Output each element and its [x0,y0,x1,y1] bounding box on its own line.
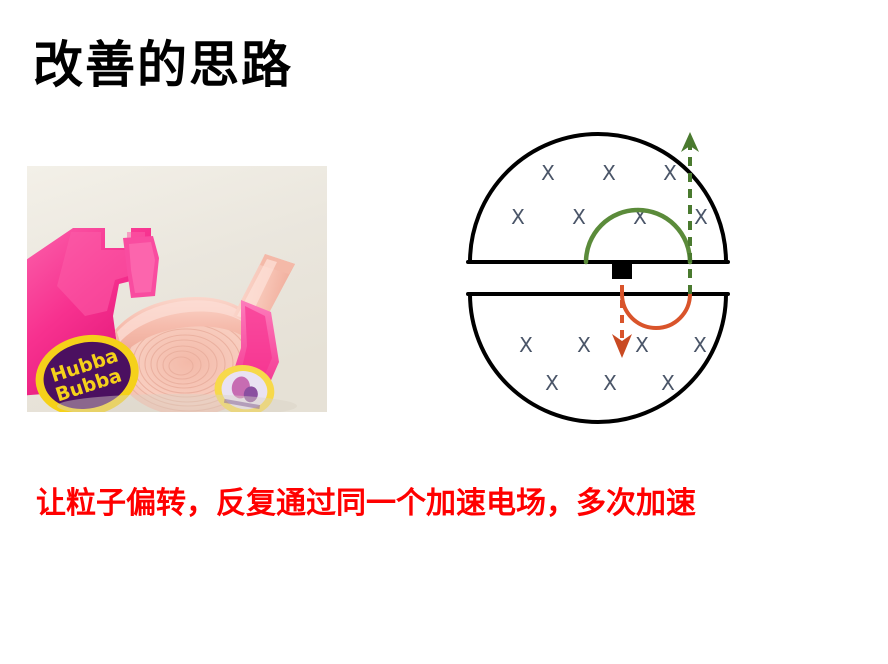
caption: 让粒子偏转，反复通过同一个加速电场，多次加速 [36,484,696,524]
field-marker-x: X [635,333,649,357]
slide-root: 改善的思路 [0,0,888,664]
field-marker-x: X [519,333,533,357]
field-marker-x: X [572,205,586,229]
field-marker-x: X [541,161,555,185]
field-marker-x: X [577,333,591,357]
page-title: 改善的思路 [33,35,293,95]
photo-illustration: Hubba Bubba [27,166,327,412]
field-marker-x: X [602,161,616,185]
field-marker-x: X [545,371,559,395]
field-marker-x: X [693,333,707,357]
field-marker-x: X [661,371,675,395]
cyclotron-diagram: X X X X X X X X X X X X X X [448,112,748,452]
particle-source [612,262,632,279]
field-marker-x: X [694,205,708,229]
field-marker-x: X [603,371,617,395]
cyclotron-illustration: X X X X X X X X X X X X X X [448,112,748,452]
lower-trajectory-arc [622,294,690,328]
lower-dee-field-markers: X X X X X X X [519,333,707,395]
bubble-gum-tape-photo: Hubba Bubba [27,166,327,412]
field-marker-x: X [511,205,525,229]
field-marker-x: X [663,161,677,185]
lower-dee-arc [470,294,726,422]
